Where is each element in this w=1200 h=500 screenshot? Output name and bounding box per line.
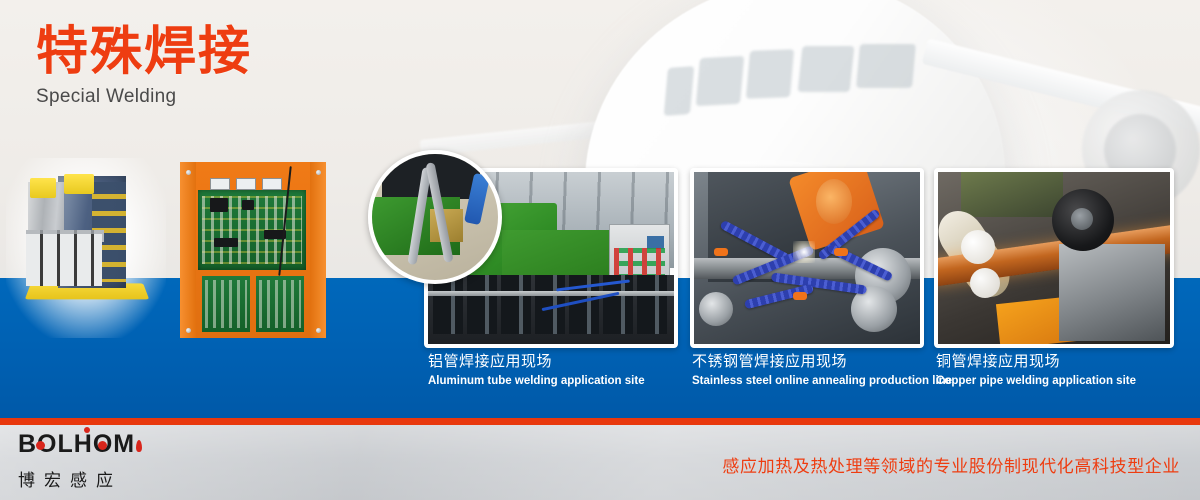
transformer-conductor-bars	[26, 234, 102, 286]
main-circuit-board	[198, 190, 306, 270]
aircraft-window	[664, 66, 694, 116]
driver-board-left	[202, 276, 250, 332]
pcb-traces	[259, 280, 301, 328]
logo-flame-icon	[136, 440, 142, 452]
roller-wheel	[699, 292, 733, 326]
gallery-photo-stainless[interactable]	[690, 168, 924, 348]
logo-dot-o-second	[98, 441, 107, 450]
caption-english: Stainless steel online annealing product…	[692, 374, 952, 389]
headline-english: Special Welding	[36, 86, 252, 108]
aluminum-tube	[428, 291, 674, 296]
transformer-yellow-cap	[30, 178, 56, 198]
gallery-photo-copper[interactable]	[934, 168, 1174, 348]
logo-dot-o-first	[36, 441, 45, 450]
logo-wordmark: BOLHOM	[18, 432, 135, 457]
board-connector	[210, 178, 230, 190]
caption-aluminum: 铝管焊接应用现场 Aluminum tube welding applicati…	[428, 352, 645, 389]
transformer-yellow-cap	[64, 174, 94, 194]
cabinet-screw	[316, 170, 321, 175]
pcb-chip	[210, 198, 228, 212]
caption-chinese: 铝管焊接应用现场	[428, 352, 645, 371]
board-connector	[236, 178, 256, 190]
driver-board-right	[256, 276, 304, 332]
red-divider-stripe	[0, 418, 1200, 425]
cabinet-screw	[186, 170, 191, 175]
control-board-cabinet-photo	[172, 158, 334, 340]
promotional-banner: 特殊焊接 Special Welding	[0, 0, 1200, 500]
hose-nozzle	[714, 248, 728, 256]
cabinet-right-rail	[310, 162, 326, 338]
company-logo[interactable]: BOLHOM 博宏感应	[18, 432, 135, 491]
pcb-chip	[214, 238, 238, 247]
caption-copper: 铜管焊接应用现场 Copper pipe welding application…	[936, 352, 1136, 389]
weld-arc-glow	[793, 241, 815, 263]
logo-chinese-name: 博宏感应	[18, 466, 135, 491]
steel-tooling-block	[1059, 244, 1166, 340]
induction-coil-row	[433, 275, 669, 333]
hose-nozzle	[834, 248, 848, 256]
pcb-chip	[242, 200, 254, 210]
orange-pulley	[816, 179, 852, 224]
aircraft-window	[746, 49, 794, 99]
board-connector	[262, 178, 282, 190]
gallery-inset-closeup[interactable]	[368, 150, 502, 284]
aircraft-window	[798, 46, 855, 92]
caption-chinese: 不锈钢管焊接应用现场	[692, 352, 952, 371]
caption-stainless: 不锈钢管焊接应用现场 Stainless steel online anneal…	[692, 352, 952, 389]
headline-chinese: 特殊焊接	[36, 26, 252, 78]
cabinet-screw	[316, 328, 321, 333]
cabinet-left-rail	[180, 162, 196, 338]
footer-tagline: 感应加热及热处理等领域的专业股份制现代化高科技型企业	[722, 452, 1180, 477]
page-title: 特殊焊接 Special Welding	[36, 26, 252, 108]
caption-chinese: 铜管焊接应用现场	[936, 352, 1136, 371]
logo-dot-i	[84, 427, 90, 433]
caption-english: Aluminum tube welding application site	[428, 374, 645, 389]
cabinet-screw	[186, 328, 191, 333]
pcb-traces	[205, 280, 247, 328]
induction-heating-transformer-photo	[6, 158, 166, 338]
aircraft-window	[856, 44, 916, 88]
green-machine-top	[961, 172, 1063, 217]
caption-english: Copper pipe welding application site	[936, 374, 1136, 389]
hose-nozzle	[793, 292, 807, 300]
aircraft-window	[696, 56, 744, 106]
